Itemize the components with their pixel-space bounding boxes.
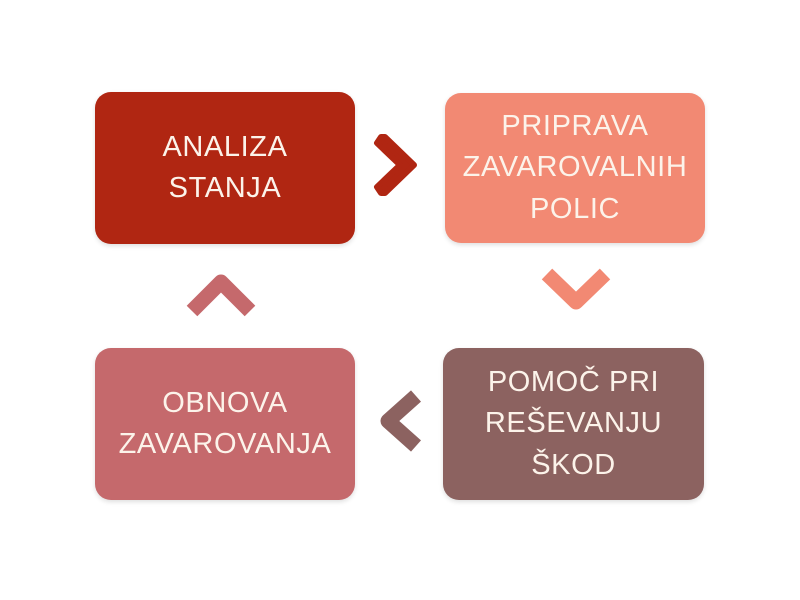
process-node-label: ANALIZA STANJA: [148, 127, 301, 209]
chevron-up-icon: [185, 268, 257, 318]
process-node-obnova-zavarovanja[interactable]: OBNOVA ZAVAROVANJA: [95, 348, 355, 500]
process-node-label: OBNOVA ZAVAROVANJA: [105, 383, 346, 465]
chevron-left-icon: [376, 389, 424, 453]
chevron-down-icon: [541, 266, 611, 318]
process-node-priprava-zavarovalnih-polic[interactable]: PRIPRAVA ZAVAROVALNIH POLIC: [445, 93, 705, 243]
process-node-pomoc-pri-resevanju-skod[interactable]: POMOČ PRI REŠEVANJU ŠKOD: [443, 348, 704, 500]
process-node-analiza-stanja[interactable]: ANALIZA STANJA: [95, 92, 355, 244]
process-node-label: PRIPRAVA ZAVAROVALNIH POLIC: [449, 106, 702, 230]
process-cycle-diagram: ANALIZA STANJA PRIPRAVA ZAVAROVALNIH POL…: [0, 0, 800, 600]
process-node-label: POMOČ PRI REŠEVANJU ŠKOD: [471, 362, 676, 486]
chevron-right-icon: [372, 134, 420, 196]
